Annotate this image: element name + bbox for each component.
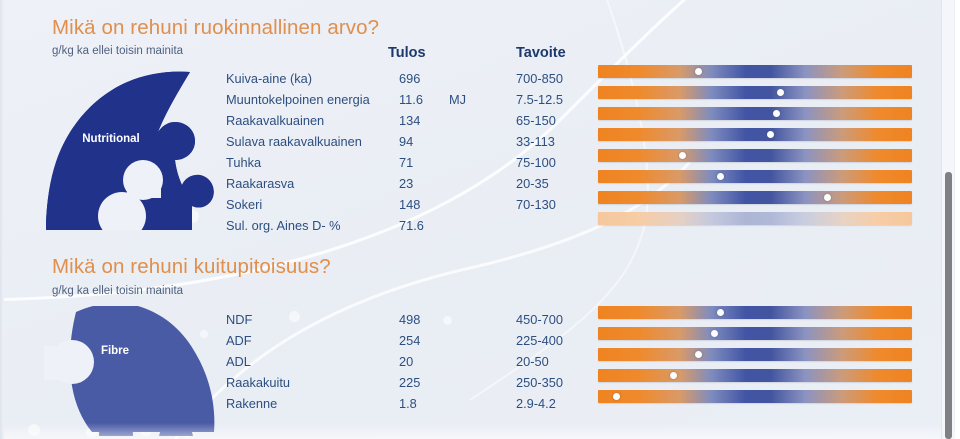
row-label: Muuntokelpoinen energia: [226, 92, 370, 107]
row-value: 498: [399, 312, 420, 327]
row-target: 65-150: [516, 113, 556, 128]
gauge-marker-dot: [670, 372, 677, 379]
gauge-marker-dot: [777, 89, 784, 96]
row-value: 11.6: [399, 92, 423, 107]
puzzle-label-fibre: Fibre: [50, 345, 180, 357]
row-label: Sokeri: [226, 197, 262, 212]
scrollbar-track[interactable]: [941, 0, 954, 439]
row-target: 75-100: [516, 155, 556, 170]
report-page: Mikä on rehuni ruokinnallinen arvo? g/kg…: [0, 0, 960, 439]
row-value: 1.8: [399, 396, 417, 411]
gauge-marker-dot: [695, 351, 702, 358]
row-target: 250-350: [516, 375, 563, 390]
row-value: 134: [399, 113, 420, 128]
row-value: 20: [399, 354, 413, 369]
row-label: Tuhka: [226, 155, 261, 170]
row-label: Kuiva-aine (ka): [226, 71, 312, 86]
row-value: 148: [399, 197, 420, 212]
page-title: Mikä on rehuni ruokinnallinen arvo?: [52, 16, 379, 40]
background-dot: [289, 311, 300, 322]
gauge-marker-dot: [767, 131, 774, 138]
gauge-marker-dot: [717, 309, 724, 316]
scrollbar-thumb[interactable]: [945, 172, 952, 439]
row-label: ADF: [226, 333, 252, 348]
row-value: 23: [399, 176, 413, 191]
row-label: Raakakuitu: [226, 375, 290, 390]
gauge-bar: [598, 306, 912, 319]
row-value: 94: [399, 134, 413, 149]
row-label: Raakarasva: [226, 176, 294, 191]
gauge-bar: [598, 128, 912, 141]
gauge-marker-dot: [711, 330, 718, 337]
row-label: Sulava raakavalkuainen: [226, 134, 362, 149]
row-target: 225-400: [516, 333, 563, 348]
right-edge-border: [955, 0, 960, 439]
gauge-marker-dot: [824, 194, 831, 201]
row-value: 225: [399, 375, 420, 390]
row-label: ADL: [226, 354, 251, 369]
row-target: 70-130: [516, 197, 556, 212]
row-target: 7.5-12.5: [516, 92, 563, 107]
gauge-marker-dot: [695, 68, 702, 75]
section-title-fibre: Mikä on rehuni kuitupitoisuus?: [52, 255, 331, 279]
column-header-target: Tavoite: [516, 45, 566, 61]
puzzle-piece-fibre: [44, 306, 224, 436]
puzzle-piece-nutritional: [42, 64, 222, 230]
row-target: 33-113: [516, 134, 555, 149]
gauge-marker-dot: [773, 110, 780, 117]
gauge-bar: [598, 65, 912, 78]
gauge-marker-dot: [613, 393, 620, 400]
section-subtitle: g/kg ka ellei toisin mainita: [52, 45, 183, 57]
gauge-bar: [598, 149, 912, 162]
gauge-bar: [598, 369, 912, 382]
row-label: Raakavalkuainen: [226, 113, 324, 128]
section-subtitle: g/kg ka ellei toisin mainita: [52, 285, 183, 297]
column-header-result: Tulos: [388, 45, 426, 61]
gauge-bar: [598, 212, 912, 225]
row-label: Sul. org. Aines D- %: [226, 218, 341, 233]
row-label: Rakenne: [226, 396, 277, 411]
row-target: 20-35: [516, 176, 549, 191]
gauge-bar: [598, 390, 912, 403]
gauge-bar: [598, 348, 912, 361]
row-value: 696: [399, 71, 420, 86]
row-value: 71: [399, 155, 413, 170]
background-dot: [443, 316, 452, 325]
gauge-marker-dot: [717, 173, 724, 180]
row-target: 450-700: [516, 312, 563, 327]
puzzle-label-nutritional: Nutritional: [46, 133, 176, 145]
row-target: 700-850: [516, 71, 563, 86]
gauge-bar: [598, 107, 912, 120]
row-target: 20-50: [516, 354, 549, 369]
bottom-fade-band: [0, 423, 960, 439]
row-value: 254: [399, 333, 420, 348]
row-value: 71.6: [399, 218, 424, 233]
row-unit: MJ: [449, 92, 466, 107]
gauge-bar: [598, 327, 912, 340]
left-edge-border: [0, 0, 4, 439]
gauge-bar: [598, 191, 912, 204]
row-target: 2.9-4.2: [516, 396, 556, 411]
gauge-bar: [598, 170, 912, 183]
row-label: NDF: [226, 312, 252, 327]
gauge-bar: [598, 86, 912, 99]
gauge-marker-dot: [679, 152, 686, 159]
